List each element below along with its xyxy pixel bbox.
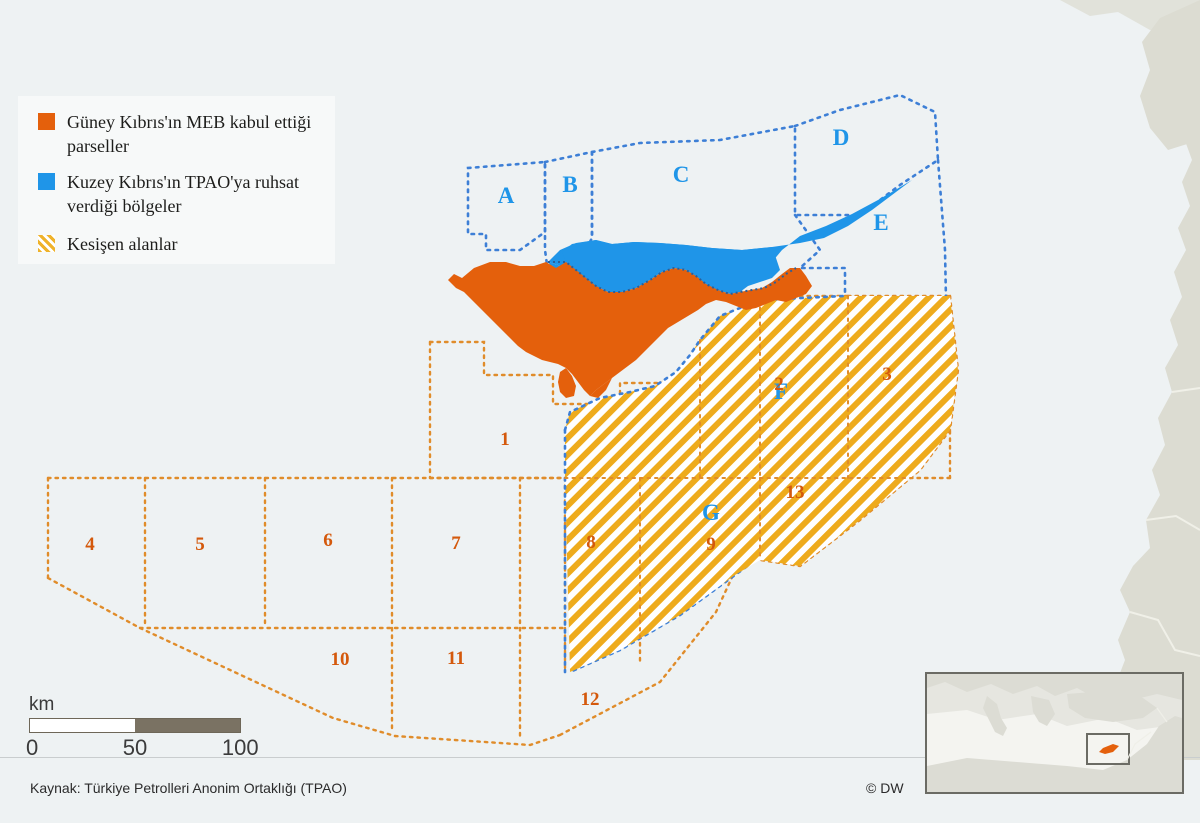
blue-square-icon	[38, 173, 55, 190]
hatched-square-icon	[38, 235, 55, 252]
scale-tick-100: 100	[222, 735, 259, 761]
credit-text: © DW	[866, 780, 904, 796]
orange-square-icon	[38, 113, 55, 130]
scale-segment-dark	[135, 719, 240, 732]
source-text: Kaynak: Türkiye Petrolleri Anonim Ortakl…	[30, 780, 347, 796]
infographic-root: Kıbrıs çevresindeki ihtilaflı deniz alan…	[0, 0, 1200, 823]
legend-label: Güney Kıbrıs'ın MEB kabul ettiği parsell…	[67, 110, 329, 158]
scale-tick-50: 50	[123, 735, 147, 761]
scale-bar-track	[29, 718, 241, 733]
scale-bar: km 0 50 100	[29, 694, 241, 759]
scale-segment-light	[30, 719, 135, 732]
legend-item-orange: Güney Kıbrıs'ın MEB kabul ettiği parsell…	[38, 110, 329, 158]
inset-canvas	[927, 674, 1182, 792]
legend-item-blue: Kuzey Kıbrıs'ın TPAO'ya ruhsat verdiği b…	[38, 170, 329, 218]
locator-inset-map	[925, 672, 1184, 794]
legend-label: Kuzey Kıbrıs'ın TPAO'ya ruhsat verdiği b…	[67, 170, 329, 218]
scale-ticks: 0 50 100	[29, 733, 241, 759]
legend-item-hatch: Kesişen alanlar	[38, 232, 177, 256]
legend-label: Kesişen alanlar	[67, 232, 177, 256]
scale-unit-label: km	[29, 694, 241, 716]
legend-box: Güney Kıbrıs'ın MEB kabul ettiği parsell…	[18, 96, 335, 264]
scale-tick-0: 0	[26, 735, 38, 761]
